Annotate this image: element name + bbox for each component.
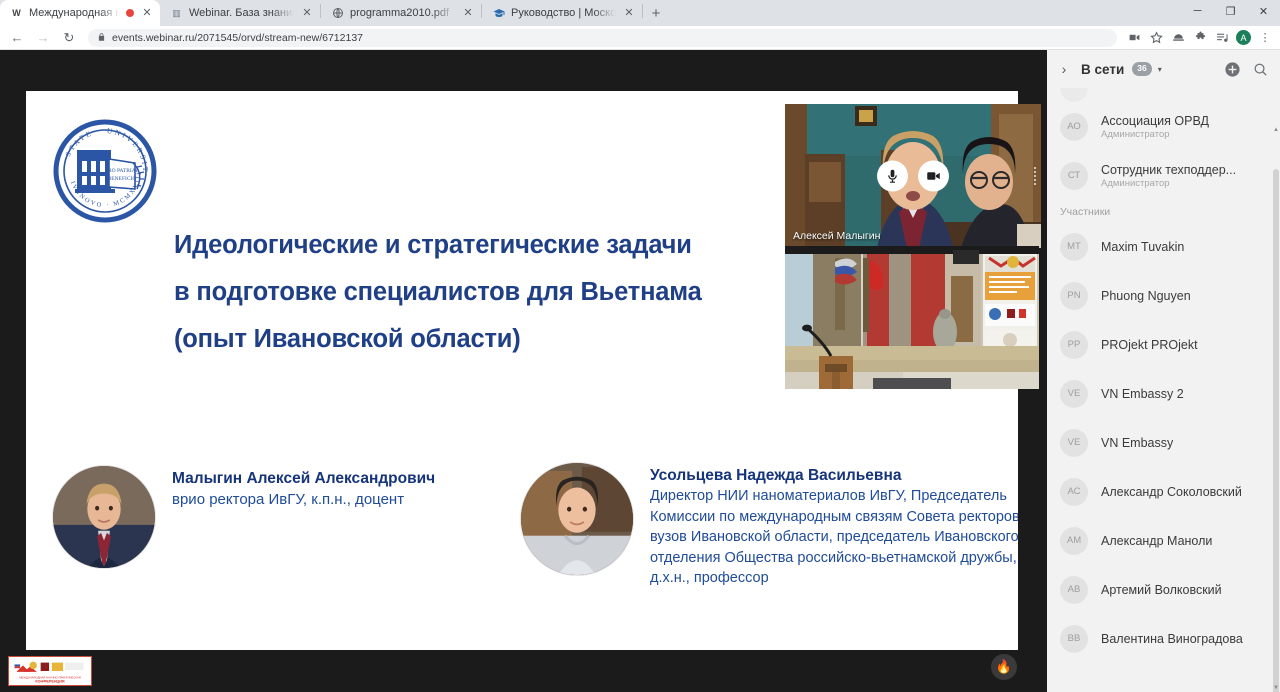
participant-name: VN Embassy xyxy=(1101,436,1173,450)
avatar: АС xyxy=(1060,478,1088,506)
participant-name: Александр Соколовский xyxy=(1101,485,1242,499)
tab-title: Международная научно-пр xyxy=(29,7,120,19)
university-seal-icon: PRO PATRIAE BENEFICIO STATE · UNIVERSITY… xyxy=(53,119,157,223)
forward-icon[interactable]: → xyxy=(30,27,56,49)
participants-list[interactable]: АО Ассоциация ОРВД Администратор СТ Сотр… xyxy=(1047,88,1280,692)
profile-avatar[interactable]: A xyxy=(1236,30,1251,45)
lock-icon xyxy=(97,32,106,44)
list-item-meta xyxy=(1101,88,1104,102)
participant-name: Валентина Виноградова xyxy=(1101,632,1243,646)
video-controls xyxy=(877,161,949,192)
tab-strip: W Международная научно-пр ✕ ▥ Webinar. Б… xyxy=(0,0,1280,26)
video-options-icon[interactable] xyxy=(1034,167,1036,185)
list-item-meta: Артемий Волковский xyxy=(1101,583,1222,597)
tab-favicon-webinar: W xyxy=(10,7,23,20)
list-item-meta: Валентина Виноградова xyxy=(1101,632,1243,646)
browser-window: W Международная научно-пр ✕ ▥ Webinar. Б… xyxy=(0,0,1280,692)
participants-sidebar: › В сети 36 ▾ xyxy=(1047,50,1280,692)
back-icon[interactable]: ← xyxy=(4,27,30,49)
list-item-3[interactable]: VE VN Embassy 2 xyxy=(1047,369,1280,418)
list-item-meta: VN Embassy 2 xyxy=(1101,387,1184,401)
speaker-role-1: врио ректора ИвГУ, к.п.н., доцент xyxy=(172,489,435,510)
tab-close-icon[interactable]: ✕ xyxy=(461,6,475,20)
participant-name: Александр Маноли xyxy=(1101,534,1212,548)
conference-banner: МЕЖДУНАРОДНАЯ НАУЧНО-ПРАКТИЧЕСКАЯ КОНФЕР… xyxy=(8,656,92,686)
avatar: ВВ xyxy=(1060,625,1088,653)
bookmark-star-icon[interactable] xyxy=(1145,27,1167,49)
video-camera-icon[interactable] xyxy=(918,161,949,192)
speaker-name-1: Малыгин Алексей Александрович xyxy=(172,469,435,489)
speaker-name-2: Усольцева Надежда Васильевна xyxy=(650,466,1018,486)
collapse-sidebar-icon[interactable]: › xyxy=(1055,60,1073,78)
browser-menu-icon[interactable]: ⋮ xyxy=(1254,27,1276,49)
page-content: PRO PATRIAE BENEFICIO STATE · UNIVERSITY… xyxy=(0,50,1280,692)
avatar: VE xyxy=(1060,429,1088,457)
speaker-block-1: Малыгин Алексей Александрович врио ректо… xyxy=(52,465,542,569)
svg-text:BENEFICIO: BENEFICIO xyxy=(108,176,137,182)
new-tab-button[interactable]: + xyxy=(643,0,669,26)
video-tile-hall[interactable] xyxy=(785,246,1039,389)
sidebar-header: › В сети 36 ▾ xyxy=(1047,50,1280,88)
sidebar-title: В сети xyxy=(1081,62,1124,77)
list-item-meta: Александр Маноли xyxy=(1101,534,1212,548)
participant-name: PROjekt PROjekt xyxy=(1101,338,1198,352)
list-item-admin-0[interactable]: АО Ассоциация ОРВД Администратор xyxy=(1047,102,1280,151)
participant-name: VN Embassy 2 xyxy=(1101,387,1184,401)
recording-indicator-icon xyxy=(126,9,134,17)
microphone-icon[interactable] xyxy=(877,161,908,192)
participant-name: Phuong Nguyen xyxy=(1101,289,1191,303)
scroll-up-icon[interactable]: ▲ xyxy=(1272,126,1280,134)
scrollbar-thumb[interactable] xyxy=(1273,169,1279,692)
list-item-meta: Ассоциация ОРВД Администратор xyxy=(1101,114,1209,140)
tab-favicon-pdf-globe xyxy=(331,7,344,20)
tab-title: programma2010.pdf xyxy=(350,7,455,19)
address-bar[interactable]: events.webinar.ru/2071545/orvd/stream-ne… xyxy=(88,29,1117,47)
participant-role: Администратор xyxy=(1101,178,1236,189)
extensions-puzzle-icon[interactable] xyxy=(1189,27,1211,49)
video-tile-speaker[interactable]: Алексей Малыгин xyxy=(785,104,1041,248)
fire-reaction-button[interactable]: 🔥 xyxy=(991,654,1017,680)
list-item-2[interactable]: PP PROjekt PROjekt xyxy=(1047,320,1280,369)
reading-list-icon[interactable] xyxy=(1211,27,1233,49)
speaker-photo-2 xyxy=(520,462,634,576)
minimize-button[interactable]: ─ xyxy=(1181,0,1214,22)
svg-text:PRO PATRIAE: PRO PATRIAE xyxy=(105,168,140,174)
tab-close-icon[interactable]: ✕ xyxy=(300,6,314,20)
avatar: MT xyxy=(1060,233,1088,261)
online-count-badge: 36 xyxy=(1132,62,1151,75)
tab-close-icon[interactable]: ✕ xyxy=(140,6,154,20)
avatar: VE xyxy=(1060,380,1088,408)
close-window-button[interactable]: ✕ xyxy=(1247,0,1280,22)
extension-hat-icon[interactable] xyxy=(1167,27,1189,49)
speaker-block-2: Усольцева Надежда Васильевна Директор НИ… xyxy=(520,462,1018,589)
tab-1[interactable]: ▥ Webinar. База знаний ✕ xyxy=(160,0,320,26)
section-label-participants: Участники xyxy=(1047,200,1280,222)
participant-name xyxy=(1101,88,1104,102)
tab-3[interactable]: Руководство | Московская ака ✕ xyxy=(482,0,642,26)
reload-icon[interactable]: ↻ xyxy=(56,27,82,49)
video-participant-name: Алексей Малыгин xyxy=(793,230,880,242)
list-item-partial[interactable] xyxy=(1047,88,1280,102)
chevron-down-icon[interactable]: ▾ xyxy=(1158,65,1162,74)
list-item-6[interactable]: АМ Александр Маноли xyxy=(1047,516,1280,565)
list-item-meta: PROjekt PROjekt xyxy=(1101,338,1198,352)
scroll-down-icon[interactable]: ▼ xyxy=(1272,684,1280,692)
avatar: АВ xyxy=(1060,576,1088,604)
add-participant-icon[interactable] xyxy=(1222,59,1242,79)
avatar: АО xyxy=(1060,113,1088,141)
maximize-button[interactable]: ❐ xyxy=(1214,0,1247,22)
avatar: СТ xyxy=(1060,162,1088,190)
participant-name: Сотрудник техподдер... xyxy=(1101,163,1236,177)
list-item-meta: VN Embassy xyxy=(1101,436,1173,450)
browser-toolbar: ← → ↻ events.webinar.ru/2071545/orvd/str… xyxy=(0,26,1280,50)
list-item-8[interactable]: ВВ Валентина Виноградова xyxy=(1047,614,1280,663)
list-item-1[interactable]: PN Phuong Nguyen xyxy=(1047,271,1280,320)
avatar: PP xyxy=(1060,331,1088,359)
participant-name: Maxim Tuvakin xyxy=(1101,240,1184,254)
list-item-admin-1[interactable]: СТ Сотрудник техподдер... Администратор xyxy=(1047,151,1280,200)
list-item-7[interactable]: АВ Артемий Волковский xyxy=(1047,565,1280,614)
participant-name: Артемий Волковский xyxy=(1101,583,1222,597)
avatar xyxy=(1060,88,1088,102)
list-item-0[interactable]: MT Maxim Tuvakin xyxy=(1047,222,1280,271)
tab-title: Webinar. База знаний xyxy=(189,7,294,19)
speaker-text-1: Малыгин Алексей Александрович врио ректо… xyxy=(172,465,435,510)
list-item-meta: Phuong Nguyen xyxy=(1101,289,1191,303)
tab-title: Руководство | Московская ака xyxy=(511,7,616,19)
participant-role: Администратор xyxy=(1101,129,1209,140)
participant-name: Ассоциация ОРВД xyxy=(1101,114,1209,128)
speaker-text-2: Усольцева Надежда Васильевна Директор НИ… xyxy=(650,462,1018,589)
svg-text:КОНФЕРЕНЦИЯ: КОНФЕРЕНЦИЯ xyxy=(35,680,65,684)
list-item-meta: Maxim Tuvakin xyxy=(1101,240,1184,254)
list-item-meta: Сотрудник техподдер... Администратор xyxy=(1101,163,1236,189)
screen-share-icon[interactable] xyxy=(1123,27,1145,49)
list-item-meta: Александр Соколовский xyxy=(1101,485,1242,499)
webinar-stage: PRO PATRIAE BENEFICIO STATE · UNIVERSITY… xyxy=(0,50,1047,692)
tab-favicon-knowledge-base: ▥ xyxy=(170,7,183,20)
sidebar-scrollbar[interactable]: ▲ ▼ xyxy=(1272,126,1280,692)
speaker-photo-1 xyxy=(52,465,156,569)
speaker-role-2: Директор НИИ наноматериалов ИвГУ, Предсе… xyxy=(650,486,1018,589)
tab-close-icon[interactable]: ✕ xyxy=(622,6,636,20)
tab-0[interactable]: W Международная научно-пр ✕ xyxy=(0,0,160,26)
tab-2[interactable]: programma2010.pdf ✕ xyxy=(321,0,481,26)
window-controls: ─ ❐ ✕ xyxy=(1181,0,1280,22)
avatar: PN xyxy=(1060,282,1088,310)
address-bar-url: events.webinar.ru/2071545/orvd/stream-ne… xyxy=(112,32,363,44)
list-item-4[interactable]: VE VN Embassy xyxy=(1047,418,1280,467)
search-icon[interactable] xyxy=(1250,59,1270,79)
list-item-5[interactable]: АС Александр Соколовский xyxy=(1047,467,1280,516)
tab-favicon-graduation-cap xyxy=(492,7,505,20)
avatar: АМ xyxy=(1060,527,1088,555)
